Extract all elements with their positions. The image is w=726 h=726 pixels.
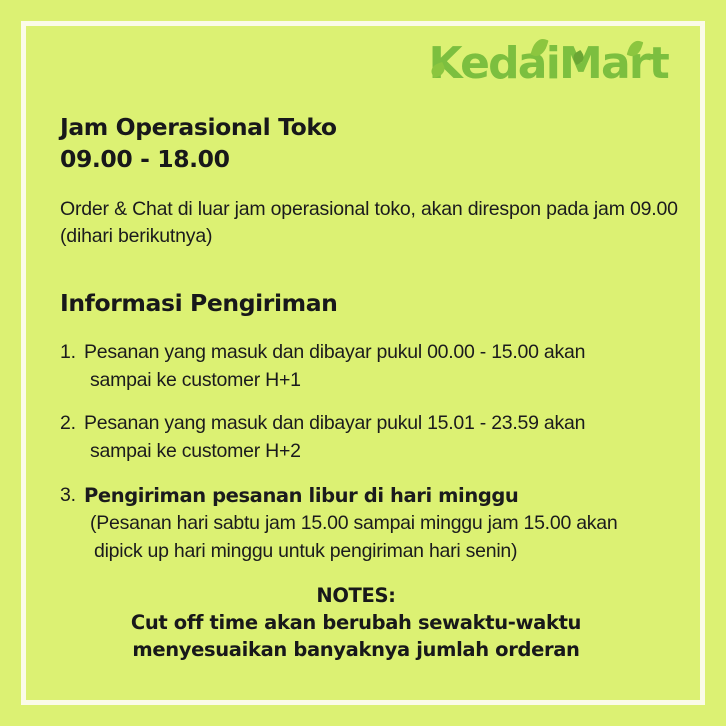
store-hours-title: Jam Operasional Toko (60, 112, 692, 143)
poster-content: KedaiMart Jam Operasional Toko 09.00 - 1… (0, 0, 726, 726)
list-item-number: 2. (60, 410, 84, 465)
kedaimart-logo: KedaiMart (429, 42, 668, 86)
list-item-line3: dipick up hari minggu untuk pengiriman h… (84, 538, 684, 566)
list-item-line1: Pesanan yang masuk dan dibayar pukul 15.… (84, 412, 585, 434)
list-item-line2: sampai ke customer H+2 (84, 438, 684, 466)
shipping-info-title: Informasi Pengiriman (34, 289, 692, 317)
notes-line1: Cut off time akan berubah sewaktu-waktu (34, 609, 678, 636)
store-hours-note-line1: Order & Chat di luar jam operasional tok… (60, 198, 589, 220)
list-item-line2: sampai ke customer H+1 (84, 367, 684, 395)
list-item: 1. Pesanan yang masuk dan dibayar pukul … (60, 339, 692, 394)
list-item: 2. Pesanan yang masuk dan dibayar pukul … (60, 410, 692, 465)
store-hours-value: 09.00 - 18.00 (60, 144, 692, 175)
list-item-line1: Pengiriman pesanan libur di hari minggu (84, 484, 518, 507)
list-item-line2: (Pesanan hari sabtu jam 15.00 sampai min… (84, 510, 684, 538)
store-hours-note: Order & Chat di luar jam operasional tok… (34, 196, 684, 251)
list-item-body: Pesanan yang masuk dan dibayar pukul 00.… (84, 339, 684, 394)
list-item-number: 1. (60, 339, 84, 394)
list-item-number: 3. (60, 482, 84, 566)
promo-poster: KedaiMart Jam Operasional Toko 09.00 - 1… (0, 0, 726, 726)
store-hours-block: Jam Operasional Toko 09.00 - 18.00 (34, 112, 692, 176)
notes-block: NOTES: Cut off time akan berubah sewaktu… (34, 582, 692, 664)
notes-line2: menyesuaikan banyaknya jumlah orderan (34, 636, 678, 663)
list-item-body: Pengiriman pesanan libur di hari minggu … (84, 482, 684, 566)
list-item-body: Pesanan yang masuk dan dibayar pukul 15.… (84, 410, 684, 465)
notes-title: NOTES: (34, 582, 678, 609)
brand-logo-row: KedaiMart (34, 28, 692, 100)
shipping-info-list: 1. Pesanan yang masuk dan dibayar pukul … (34, 339, 692, 566)
list-item: 3. Pengiriman pesanan libur di hari ming… (60, 482, 692, 566)
list-item-line1: Pesanan yang masuk dan dibayar pukul 00.… (84, 341, 585, 363)
